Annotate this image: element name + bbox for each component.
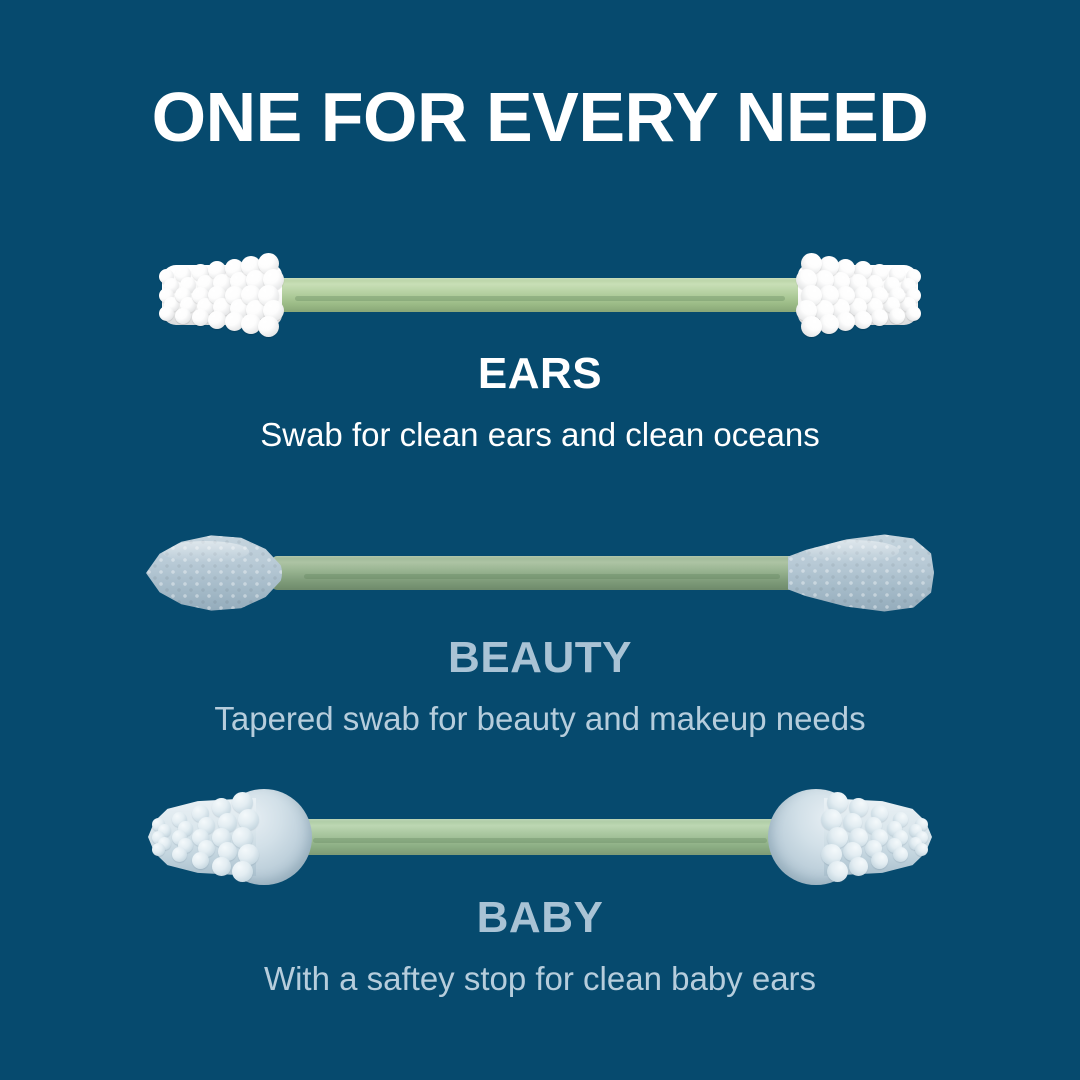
tip-nub — [802, 316, 823, 337]
page-title: ONE FOR EVERY NEED — [0, 82, 1080, 152]
swab-tip-baby-right — [768, 782, 938, 892]
tip-nub — [192, 852, 209, 869]
swab-stem-baby — [282, 819, 798, 855]
highlight-overlay — [806, 540, 899, 561]
product-subtitle-ears: Swab for clean ears and clean oceans — [0, 418, 1080, 451]
tip-nub — [212, 857, 231, 876]
product-subtitle-baby: With a saftey stop for clean baby ears — [0, 962, 1080, 995]
product-heading-beauty: BEAUTY — [0, 636, 1080, 680]
tip-nub — [819, 314, 839, 334]
swab-illustration-ears — [0, 240, 1080, 350]
swab-tip-ears-right — [792, 253, 932, 337]
product-block-ears: EARS Swab for clean ears and clean ocean… — [0, 240, 1080, 451]
tip-nub — [907, 306, 922, 321]
tip-nub — [175, 308, 191, 324]
product-subtitle-beauty: Tapered swab for beauty and makeup needs — [0, 702, 1080, 735]
swab-stem-beauty — [272, 556, 812, 590]
product-block-beauty: BEAUTY Tapered swab for beauty and makeu… — [0, 518, 1080, 735]
tip-nub — [889, 308, 905, 324]
tip-nub — [850, 857, 869, 876]
tip-nub — [828, 861, 849, 882]
swab-tip-baby-left — [142, 782, 312, 892]
tip-nub — [192, 309, 209, 326]
swab-stem-ears — [262, 278, 818, 312]
texture-overlay — [788, 532, 934, 614]
swab-illustration-baby — [0, 782, 1080, 892]
swab-tip-ears-left — [148, 253, 288, 337]
tip-nub — [159, 306, 174, 321]
tip-nub — [258, 316, 279, 337]
texture-overlay — [146, 533, 282, 613]
tip-nub — [232, 861, 253, 882]
tip-nub — [837, 312, 856, 331]
swab-tip-beauty-paddle — [788, 532, 934, 614]
highlight-overlay — [162, 541, 249, 562]
tip-nub — [172, 847, 187, 862]
swab-illustration-beauty — [0, 518, 1080, 628]
tip-nub — [152, 843, 165, 856]
product-infographic: ONE FOR EVERY NEED EARS Swab for clean e… — [0, 0, 1080, 1080]
tip-nub — [208, 311, 226, 329]
product-heading-baby: BABY — [0, 896, 1080, 940]
swab-tip-beauty-pointed — [146, 533, 282, 613]
tip-nub — [854, 311, 872, 329]
tip-nub — [916, 843, 929, 856]
product-heading-ears: EARS — [0, 352, 1080, 396]
product-block-baby: BABY With a saftey stop for clean baby e… — [0, 782, 1080, 995]
